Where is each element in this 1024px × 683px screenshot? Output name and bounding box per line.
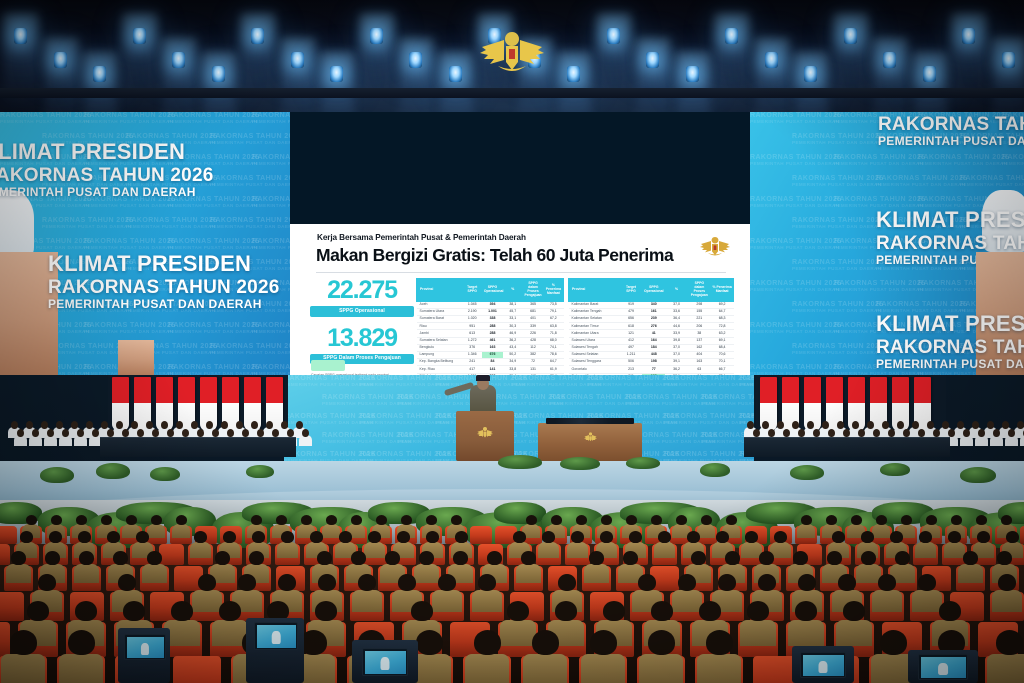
table-cell: 618 [620,323,643,330]
stage-light [172,52,185,68]
audience-attendee-torso [639,654,683,683]
audience-attendee-head [51,515,62,525]
table-cell: 69,1 [711,337,734,344]
delegate-head [11,421,18,429]
watermark-text: RAKORNAS TAHUN 2026PEMERINTAH PUSAT DAN … [210,133,290,145]
table-row: Kep. Bangka Belitung2418434,97264,7 [417,359,564,366]
table-cell: Kep. Bangka Belitung [417,359,463,366]
delegate-head [116,421,123,429]
watermark-text: RAKORNAS TAHUN 2026PEMERINTAH PUSAT DAN … [168,322,259,334]
table-cell: 340 [642,301,665,308]
audience-attendee-head [215,551,230,565]
audience-attendee-head [827,551,842,565]
delegate-head [62,429,69,437]
delegate-head [281,421,288,429]
delegate-head [858,429,865,437]
delegate-head [903,429,910,437]
table-cell: 46,9 [503,330,523,337]
stage-light [133,28,146,44]
table-cell: 1.346 [462,351,482,358]
audience-attendee-head [890,531,903,543]
table-cell: 34,9 [503,359,523,366]
delegate-head [927,421,934,429]
stage-light [54,52,67,68]
delegate-head [221,421,228,429]
light-beam [320,52,354,112]
table-cell: 131 [523,366,543,373]
audience-attendee-torso [472,590,502,612]
table-cell: 77 [642,366,665,373]
audience-attendee-head [758,574,776,591]
left-feed-title: KLIMAT PRESIDEN RAKORNAS TAHUN 2026 PEME… [0,140,214,199]
audience-attendee-head [603,601,625,621]
audience-attendee-torso [567,542,588,558]
delegate-head [182,429,189,437]
audience-attendee-torso [147,524,165,538]
table-cell: Kalimantan Selatan [569,316,620,323]
delegate-head [762,421,769,429]
delegate-torso [1020,435,1024,446]
watermark-text: RAKORNAS TAHUN 2026PEMERINTAH PUSAT DAN … [126,217,217,229]
delegate-head [296,421,303,429]
audience-attendee-head [716,531,729,543]
light-beam [439,52,473,112]
stage-plant [498,455,542,469]
table-cell: 412 [620,337,643,344]
audience-attendee-head [895,551,910,565]
audience-attendee-head [238,574,256,591]
table-cell: Kalimantan Barat [569,301,620,308]
table-cell: 394 [482,301,502,308]
table-row: Sumatera Utara2.1901.00145,768179,1 [417,308,564,315]
delegate-head [918,429,925,437]
kpi-pengajuan: 13.829 SPPG Dalam Proses Pengajuan [310,326,414,365]
audience-seat [0,544,10,565]
stage-light [567,66,580,82]
table-cell: Kalimantan Tengah [569,308,620,315]
stage-plant [880,463,910,476]
table-cell: 213 [620,366,643,373]
delegate-head [302,429,309,437]
audience-attendee-head [376,515,387,525]
camera-lcd-monitor [362,648,408,676]
watermark-text: RAKORNAS TAHUN 2026PEMERINTAH PUSAT DAN … [252,364,290,375]
audience-attendee-head [10,630,37,655]
audience-attendee-head [318,574,336,591]
light-beam [913,52,947,112]
audience-attendee-head [147,551,162,565]
audience-attendee-head [126,515,137,525]
table-row: Aceh1.04539438,136573,5 [417,301,564,308]
audience-attendee-head [176,515,187,525]
delegate-head [161,421,168,429]
table-cell: 506 [620,359,643,366]
audience-seat [0,526,17,544]
audience-attendee-torso [74,564,99,583]
table-cell: 338 [482,316,502,323]
audience-attendee-head [426,515,437,525]
audience-attendee-head [861,551,876,565]
audience-attendee-torso [697,654,741,683]
table-cell: 30,3 [503,323,523,330]
audience-attendee-head [358,574,376,591]
column-header: % Penerima Manfaat [711,279,734,302]
column-header: SPPG dalam Proses Pengajuan [688,279,711,302]
delegate-head [176,421,183,429]
stage-light [686,66,699,82]
audience-attendee-head [487,551,502,565]
table-cell: Jambi [417,330,463,337]
delegate-head [852,421,859,429]
speaker-peci-cap [476,375,490,381]
stage-plant [560,457,600,470]
table-cell: 74,1 [543,344,563,351]
audience-seat [0,622,10,657]
left-feed-title-repeat: KLIMAT PRESIDEN RAKORNAS TAHUN 2026 PEME… [48,252,280,311]
audience-attendee-torso [523,654,567,683]
audience-attendee-head [678,574,696,591]
audience-attendee-head [793,551,808,565]
table-cell: 1.211 [620,351,643,358]
watermark-text: RAKORNAS TAHUN 2026PEMERINTAH PUSAT DAN … [792,133,883,145]
table-cell: 1.001 [482,308,502,315]
audience-attendee-head [151,515,162,525]
delegate-head [963,429,970,437]
delegate-head [993,429,1000,437]
stage-light [212,66,225,82]
delegate-head [71,421,78,429]
table-cell: 112 [523,344,543,351]
audience-attendee-head [590,630,617,655]
watermark-text: RAKORNAS TAHUN 2026PEMERINTAH PUSAT DAN … [918,154,1009,166]
delegate-head [242,429,249,437]
audience-attendee-head [351,551,366,565]
stage-light [607,28,620,44]
table-right-header-row: ProvinsiTarget SPPGSPPG Operasional%SPPG… [569,279,734,302]
table-cell: 497 [620,344,643,351]
table-cell: Aceh [417,301,463,308]
audience-attendee-head [11,551,26,565]
audience-attendee-head [136,531,149,543]
table-row: Bengkulu37616343,411274,1 [417,344,564,351]
light-beam [636,38,670,112]
table-cell: 376 [462,344,482,351]
table-cell: 951 [462,323,482,330]
delegate-head [1017,421,1024,429]
table-cell: 67,2 [543,316,563,323]
table-cell: 404 [688,351,711,358]
delegate-head [753,429,760,437]
back-screen-watermark: RAKORNAS TAHUN 2026PEMERINTAH PUSAT DAN … [284,375,754,461]
camera-lcd-monitor [254,622,298,650]
audience-attendee-head [276,515,287,525]
watermark-text: RAKORNAS TAHUN 2026PEMERINTAH PUSAT DAN … [0,112,91,124]
column-header: % Penerima Manfaat [543,279,563,302]
audience-seat [1020,526,1024,544]
table-cell: 401 [523,316,543,323]
stage-light [844,28,857,44]
delegate-head [837,421,844,429]
right-feed-title-top: RAKORNAS TAHUN 2026 PEMERINTAH PUSAT DAN… [878,114,1024,149]
table-cell: 121 [620,330,643,337]
watermark-text: RAKORNAS TAHUN 2026PEMERINTAH PUSAT DAN … [834,280,925,292]
audience-attendee-head [20,531,33,543]
stage-light [291,52,304,68]
audience-attendee-head [701,515,712,525]
watermark-text: RAKORNAS TAHUN 2026PEMERINTAH PUSAT DAN … [740,375,754,387]
audience-attendee-head [123,601,145,621]
table-cell: 70,1 [711,359,734,366]
stage-light [449,66,462,82]
stage-plant [150,467,180,481]
audience-attendee-head [676,515,687,525]
audience-attendee-torso [581,654,625,683]
watermark-text: RAKORNAS TAHUN 2026PEMERINTAH PUSAT DAN … [1002,154,1024,166]
legend-swatch-green [311,360,345,371]
column-header: % [503,279,523,302]
column-header: Provinsi [569,279,620,302]
kpi-operasional-value: 22.275 [310,278,414,303]
audience-attendee-head [555,601,577,621]
delegate-head [47,429,54,437]
table-cell: 61,9 [543,366,563,373]
audience-attendee-head [351,515,362,525]
table-cell: 288 [482,323,502,330]
table-cell: 221 [688,316,711,323]
audience-attendee-head [398,574,416,591]
watermark-text: RAKORNAS TAHUN 2026PEMERINTAH PUSAT DAN … [210,343,290,355]
watermark-text: RAKORNAS TAHUN 2026PEMERINTAH PUSAT DAN … [84,322,175,334]
audience-attendee-torso [142,564,167,583]
audience-attendee-head [507,601,529,621]
left-feed-desk [118,340,154,375]
table-cell: 339 [523,323,543,330]
stage-light [923,66,936,82]
delegate-head [948,429,955,437]
watermark-text: RAKORNAS TAHUN 2026PEMERINTAH PUSAT DAN … [252,196,290,208]
watermark-text: RAKORNAS TAHUN 2026PEMERINTAH PUSAT DAN … [876,175,967,187]
delegate-head [212,429,219,437]
audience-attendee-head [171,601,193,621]
delegate-head [41,421,48,429]
lcd-feed-speaker [818,661,827,673]
delegate-head [26,421,33,429]
watermark-text: RAKORNAS TAHUN 2026PEMERINTAH PUSAT DAN … [834,154,925,166]
delegate-head [206,421,213,429]
delegate-head [882,421,889,429]
watermark-text: RAKORNAS TAHUN 2026PEMERINTAH PUSAT DAN … [84,112,175,124]
stage-plant [960,467,996,483]
audience-attendee-head [79,551,94,565]
audience-attendee-torso [654,542,675,558]
delegate-head [167,429,174,437]
stage-light [804,66,817,82]
watermark-text: RAKORNAS TAHUN 2026PEMERINTAH PUSAT DAN … [168,112,259,124]
delegate-head [798,429,805,437]
audience-attendee-head [76,515,87,525]
audience-attendee-head [996,630,1023,655]
delegate-head [137,429,144,437]
audience-attendee-head [1006,531,1019,543]
table-cell: 39,8 [665,337,688,344]
table-cell: Lampung [417,351,463,358]
lcd-live-feed [257,625,296,648]
table-row: Lampung1.34667650,238278,6 [417,351,564,358]
audience-attendee-head [251,515,262,525]
table-cell: Sulawesi Utara [569,337,620,344]
audience-attendee-torso [414,564,439,583]
slide-kicker: Kerja Bersama Pemerintah Pusat & Pemerin… [317,233,526,242]
light-beam [794,52,828,112]
audience-attendee-head [551,515,562,525]
hedge-planter [494,502,546,524]
watermark-text: RAKORNAS TAHUN 2026PEMERINTAH PUSAT DAN … [210,217,290,229]
left-feed-speaker [0,190,34,260]
audience-attendee-torso [6,564,31,583]
garuda-slide-emblem [700,232,730,262]
table-cell: 461 [482,337,502,344]
audience-attendee-torso [59,654,103,683]
table-row: Gorontalo2137736,26366,7 [569,366,734,373]
audience-attendee-head [474,630,501,655]
table-cell: 37,0 [665,344,688,351]
delegate-head [122,429,129,437]
lighting-truss [0,88,1024,98]
table-cell: 613 [462,330,482,337]
table-cell: 50,2 [503,351,523,358]
left-led-screen: RAKORNAS TAHUN 2026PEMERINTAH PUSAT DAN … [0,112,290,375]
delegate-head [807,421,814,429]
stage-light [14,28,27,44]
screenshot-root: RAKORNAS TAHUN 2026PEMERINTAH PUSAT DAN … [0,0,1024,683]
audience-attendee-head [101,515,112,525]
column-header: Target SPPG [462,279,482,302]
delegate-head [978,429,985,437]
audience-attendee-torso [797,524,815,538]
audience-attendee-head [963,551,978,565]
table-cell: 241 [462,359,482,366]
table-cell: Sulawesi Tengah [569,344,620,351]
audience-seat [173,656,221,683]
audience-attendee-head [901,515,912,525]
delegate-head [972,421,979,429]
camera-lcd-monitor [800,652,846,678]
stage-light [725,28,738,44]
table-row: Sulawesi Selatan1.21144837,040470,6 [569,351,734,358]
audience-attendee-head [826,515,837,525]
delegate-head [101,421,108,429]
delegate-head [86,421,93,429]
column-header: SPPG Operasional [642,279,665,302]
table-cell: 163 [482,344,502,351]
audience-attendee-head [948,531,961,543]
audience-attendee-torso [516,564,541,583]
audience-attendee-head [801,515,812,525]
audience-attendee-torso [836,620,872,646]
stage-plant [40,467,74,483]
table-cell: 681 [523,308,543,315]
audience-attendee-head [976,515,987,525]
garuda-desk-emblem [584,431,597,443]
watermark-text: RAKORNAS TAHUN 2026PEMERINTAH PUSAT DAN … [750,280,841,292]
ceremonial-desk [538,423,642,461]
light-beam [557,52,591,112]
delegate-head [768,429,775,437]
table-cell: Sumatera Selatan [417,337,463,344]
table-cell: 84 [482,359,502,366]
table-cell: 919 [620,301,643,308]
table-cell: 298 [688,301,711,308]
table-cell: 276 [642,323,665,330]
stage-light [409,52,422,68]
table-row: Kalimantan Selatan65623936,422168,3 [569,316,734,323]
audience-attendee-head [198,574,216,591]
delegate-head [251,421,258,429]
watermark-text: RAKORNAS TAHUN 2026PEMERINTAH PUSAT DAN … [792,175,883,187]
audience-area [0,500,1024,683]
table-cell: 78,6 [543,351,563,358]
audience-attendee-head [45,551,60,565]
audience-attendee-head [252,531,265,543]
stage-light [765,52,778,68]
main-podium [456,411,514,461]
audience-attendee-head [629,531,642,543]
kpi-operasional-label: SPPG Operasional [310,306,414,317]
audience-attendee-torso [915,542,936,558]
table-cell: 73,5 [543,301,563,308]
audience-attendee-head [78,531,91,543]
audience-attendee-head [691,551,706,565]
table-cell: 68,0 [543,337,563,344]
table-row: Sulawesi Utara41216439,813769,1 [569,337,734,344]
audience-attendee-head [745,531,758,543]
table-cell: 226 [523,330,543,337]
audience-attendee-head [1001,515,1012,525]
delegate-head [152,429,159,437]
table-cell: 33,8 [503,366,523,373]
lcd-live-feed [803,655,844,676]
delegate-head [822,421,829,429]
audience-attendee-head [438,574,456,591]
audience-attendee-head [26,515,37,525]
audience-attendee-head [426,531,439,543]
table-row: Riau95128830,333963,8 [417,323,564,330]
table-cell: Kalimantan Timur [569,323,620,330]
table-cell: 64,7 [711,308,734,315]
audience-attendee-head [219,601,241,621]
audience-attendee-torso [364,542,385,558]
stage-plant [700,463,730,477]
audience-attendee-head [601,515,612,525]
watermark-text: RAKORNAS TAHUN 2026PEMERINTAH PUSAT DAN … [168,364,259,375]
table-cell: 37,0 [665,351,688,358]
table-cell: 36,4 [665,316,688,323]
table-cell: Sulawesi Selatan [569,351,620,358]
audience-attendee-head [843,601,865,621]
audience-attendee-torso [912,590,942,612]
delegate-head [987,421,994,429]
table-cell: 2.190 [462,308,482,315]
watermark-text: RAKORNAS TAHUN 2026PEMERINTAH PUSAT DAN … [252,154,290,166]
audience-attendee-head [851,515,862,525]
delegate-head [957,421,964,429]
table-cell: 164 [642,337,665,344]
delegate-head [1008,429,1015,437]
table-cell: 365 [523,301,543,308]
ceiling-lighting-rig [0,0,1024,112]
watermark-text: RAKORNAS TAHUN 2026PEMERINTAH PUSAT DAN … [210,175,290,187]
table-row: Sumatera Barat1.02033833,140167,2 [417,316,564,323]
